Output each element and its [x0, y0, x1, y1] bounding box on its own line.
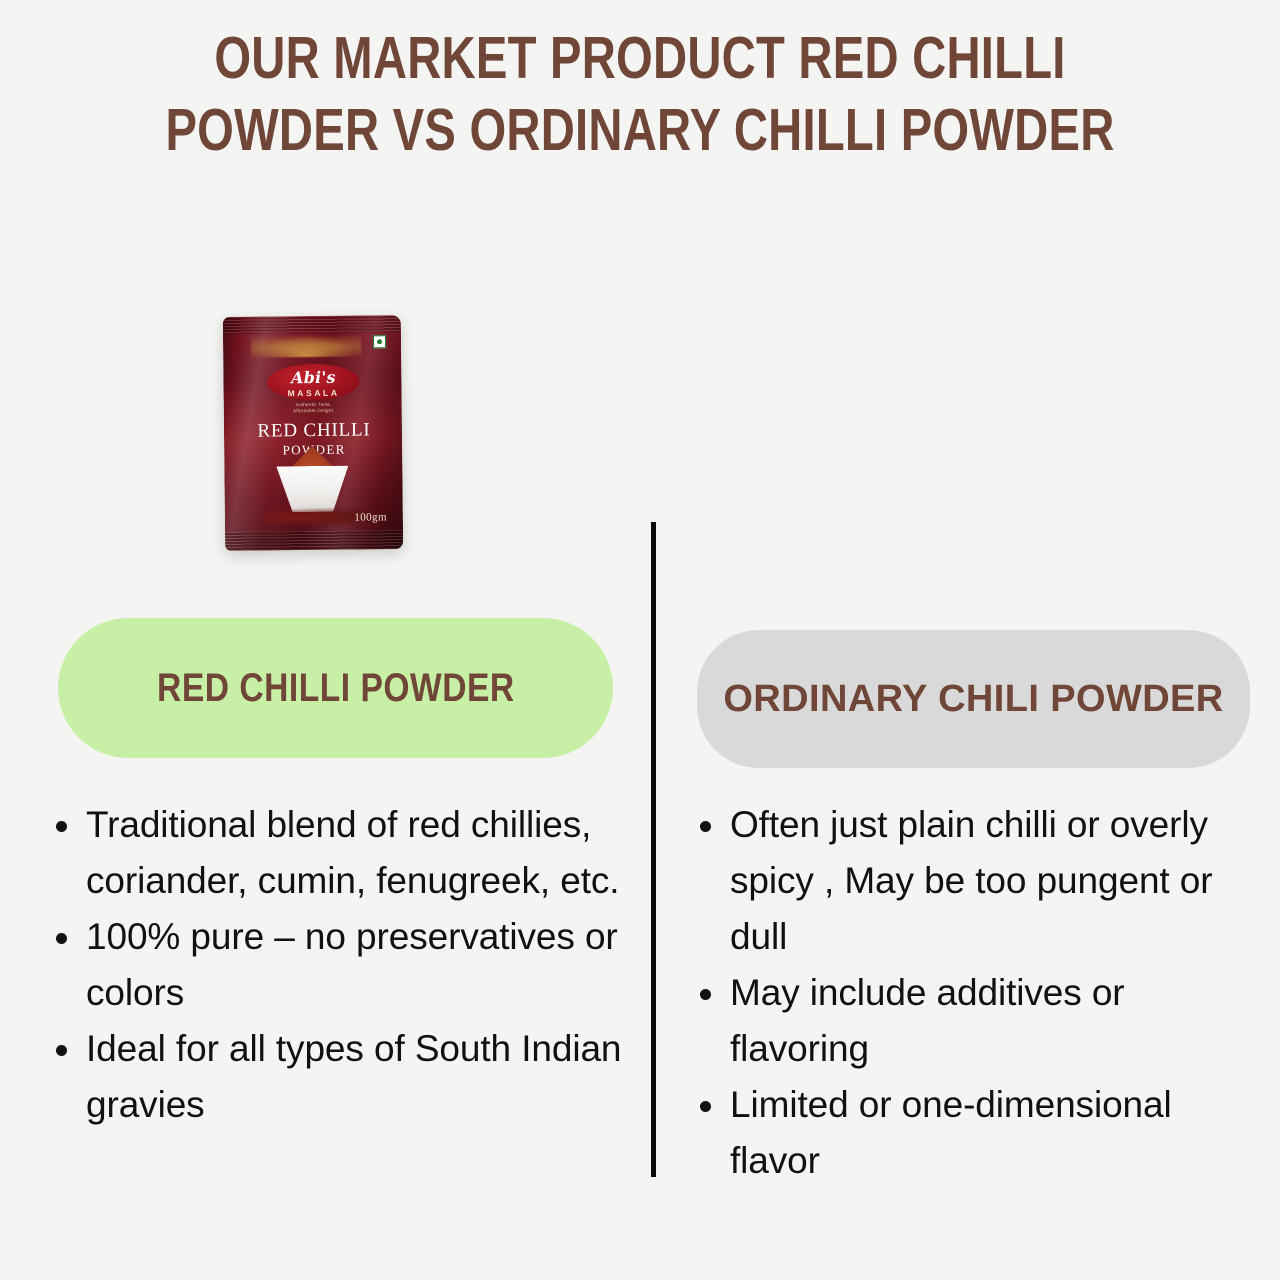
label-red-chilli-powder-text: RED CHILLI POWDER — [157, 666, 515, 711]
packet-ornament-icon — [251, 330, 361, 357]
packet-bottom-seal — [225, 530, 403, 551]
label-red-chilli-powder: RED CHILLI POWDER — [58, 618, 613, 758]
packet-net-weight: 100gm — [354, 511, 387, 523]
vegetarian-mark-icon — [373, 335, 386, 348]
label-ordinary-chili-powder: ORDINARY CHILI POWDER — [697, 630, 1250, 768]
brand-subtitle: MASALA — [268, 388, 360, 399]
packet-product-name: RED CHILLI — [236, 419, 392, 443]
list-item: Often just plain chilli or overly spicy … — [686, 797, 1266, 965]
label-ordinary-chili-powder-text: ORDINARY CHILI POWDER — [723, 668, 1223, 730]
packet-bowl-icon — [276, 466, 348, 513]
packet-dried-chillies-icon — [263, 507, 367, 528]
chilli-powder-packet-image: Abi's MASALA Authentic Taste. Affordable… — [218, 310, 408, 555]
list-item: 100% pure – no preservatives or colors — [42, 909, 622, 1021]
list-item: Traditional blend of red chillies, coria… — [42, 797, 622, 909]
list-item: Limited or one-dimensional flavor — [686, 1077, 1266, 1189]
left-comparison-column: Abi's MASALA Authentic Taste. Affordable… — [0, 0, 651, 1280]
left-feature-list: Traditional blend of red chillies, coria… — [42, 797, 622, 1133]
list-item: May include additives or flavoring — [686, 965, 1266, 1077]
right-feature-list: Often just plain chilli or overly spicy … — [686, 797, 1266, 1189]
brand-tagline-line-2: Affordable Delight. — [258, 407, 370, 415]
right-comparison-column: ORDINARY CHILI POWDER Often just plain c… — [656, 0, 1280, 1280]
list-item: Ideal for all types of South Indian grav… — [42, 1021, 622, 1133]
packet-body: Abi's MASALA Authentic Taste. Affordable… — [223, 315, 403, 551]
brand-name: Abi's — [267, 368, 359, 388]
